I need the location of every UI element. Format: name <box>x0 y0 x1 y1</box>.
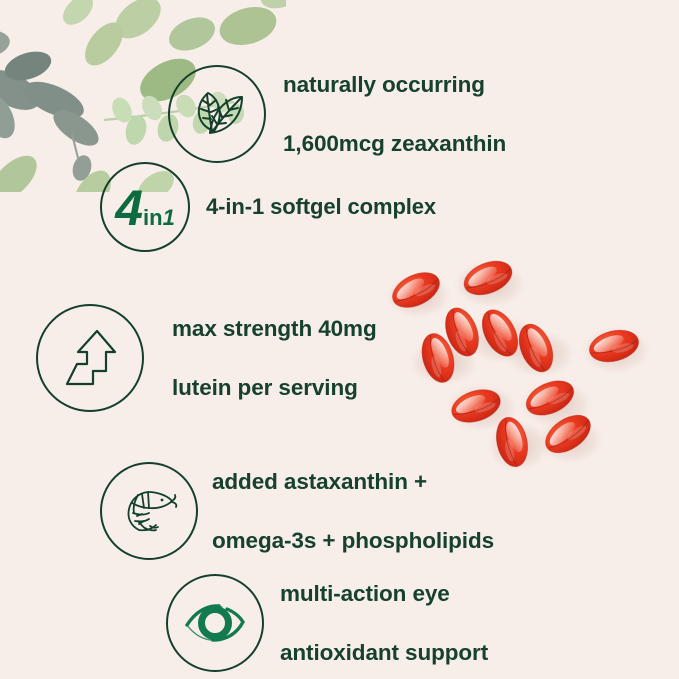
feature-text-complex: 4-in-1 softgel complex <box>206 163 436 250</box>
feature-text-strength: max strength 40mg lutein per serving <box>172 284 377 432</box>
feature-line: 1,600mcg zeaxanthin <box>283 129 506 159</box>
step-up-arrow-badge <box>36 304 144 412</box>
feature-line: naturally occurring <box>283 70 506 100</box>
eye-icon <box>182 594 248 652</box>
leaves-badge <box>168 65 266 163</box>
feature-row-strength: max strength 40mg lutein per serving <box>36 284 377 432</box>
shrimp-badge <box>100 462 198 560</box>
feature-text-eye: multi-action eye antioxidant support <box>280 549 488 679</box>
four-in-one-one: 1 <box>163 205 175 230</box>
feature-row-eye: multi-action eye antioxidant support <box>166 549 488 679</box>
infographic-canvas: naturally occurring 1,600mcg zeaxanthin … <box>0 0 679 679</box>
four-in-one-number: 4 <box>115 187 142 230</box>
feature-line: max strength 40mg <box>172 314 377 344</box>
four-in-one-icon: 4 in1 <box>115 187 175 230</box>
eye-badge <box>166 574 264 672</box>
shrimp-icon <box>118 480 180 542</box>
feature-line: added astaxanthin + <box>212 467 494 497</box>
leaves-icon <box>186 83 248 145</box>
step-up-arrow-icon <box>57 325 123 391</box>
feature-line: 4-in-1 softgel complex <box>206 192 436 221</box>
feature-line: lutein per serving <box>172 373 377 403</box>
four-in-one-in: in <box>143 205 163 230</box>
four-in-one-badge: 4 in1 <box>100 162 190 252</box>
feature-row-complex: 4 in1 4-in-1 softgel complex <box>100 162 436 252</box>
feature-line: antioxidant support <box>280 638 488 668</box>
feature-line: multi-action eye <box>280 579 488 609</box>
